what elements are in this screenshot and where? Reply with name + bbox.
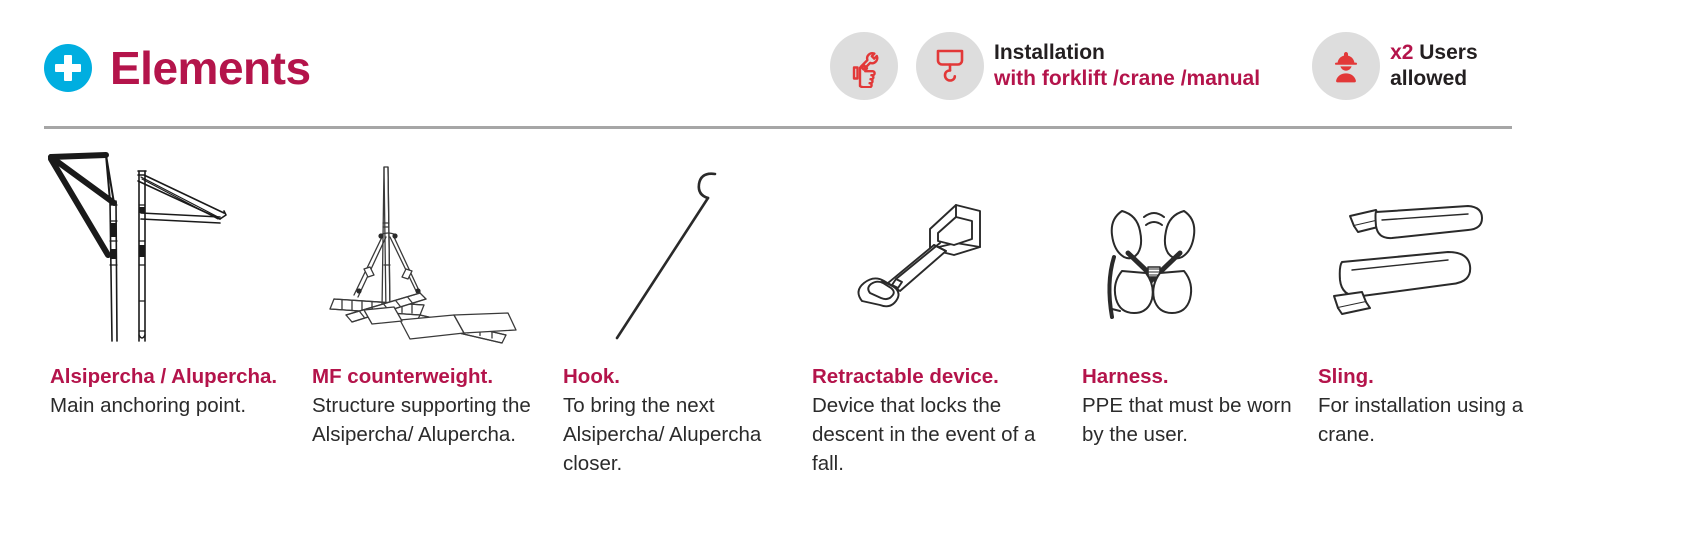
users-count-line: x2 Users xyxy=(1390,40,1478,66)
users-word: Users xyxy=(1413,41,1477,64)
crane-hook-icon xyxy=(916,32,984,100)
sling-illustration xyxy=(1328,200,1498,320)
element-caption: Harness. PPE that must be worn by the us… xyxy=(1082,362,1297,449)
element-label: MF counterweight. xyxy=(312,362,567,391)
installation-method-group: Installation with forklift /crane /manua… xyxy=(916,32,1260,100)
element-description: Device that locks the descent in the eve… xyxy=(812,391,1062,478)
users-count: x2 xyxy=(1390,41,1413,64)
users-allowed-line: allowed xyxy=(1390,66,1478,92)
users-allowed-text: x2 Users allowed xyxy=(1390,40,1478,91)
install-thumb-badge xyxy=(830,32,898,100)
element-caption: Sling. For installation using a crane. xyxy=(1318,362,1533,449)
element-description: To bring the next Alsipercha/ Alupercha … xyxy=(563,391,793,478)
hook-pole-illustration xyxy=(603,168,733,348)
element-label: Hook. xyxy=(563,362,793,391)
element-label: Alsipercha / Alupercha. xyxy=(50,362,310,391)
element-label: Sling. xyxy=(1318,362,1533,391)
page-title: Elements xyxy=(110,45,311,91)
users-allowed-group: x2 Users allowed xyxy=(1312,32,1478,100)
title-block: Elements xyxy=(44,44,311,92)
header-divider xyxy=(44,126,1512,129)
elements-list: Alsipercha / Alupercha. Main anchoring p… xyxy=(0,140,1682,540)
element-label: Harness. xyxy=(1082,362,1297,391)
page-header: Elements xyxy=(0,0,1682,128)
element-description: Structure supporting the Alsipercha/ Alu… xyxy=(312,391,567,449)
mf-counterweight-illustration xyxy=(302,165,517,355)
element-caption: MF counterweight. Structure supporting t… xyxy=(312,362,567,449)
element-caption: Hook. To bring the next Alsipercha/ Alup… xyxy=(563,362,793,478)
elements-page: Elements xyxy=(0,0,1682,548)
alsipercha-mast-illustration xyxy=(42,145,252,350)
thumbs-up-wrench-icon xyxy=(830,32,898,100)
header-info-group: Installation with forklift /crane /manua… xyxy=(830,32,1478,100)
worker-helmet-icon xyxy=(1312,32,1380,100)
installation-methods: with forklift /crane /manual xyxy=(994,66,1260,92)
installation-title: Installation xyxy=(994,40,1260,66)
element-description: Main anchoring point. xyxy=(50,391,310,420)
element-label: Retractable device. xyxy=(812,362,1062,391)
element-description: PPE that must be worn by the user. xyxy=(1082,391,1297,449)
retractable-device-illustration xyxy=(852,195,1017,320)
harness-illustration xyxy=(1092,195,1242,335)
plus-circle-icon xyxy=(44,44,92,92)
element-description: For installation using a crane. xyxy=(1318,391,1533,449)
element-caption: Alsipercha / Alupercha. Main anchoring p… xyxy=(50,362,310,420)
element-caption: Retractable device. Device that locks th… xyxy=(812,362,1062,478)
installation-text: Installation with forklift /crane /manua… xyxy=(994,40,1260,91)
